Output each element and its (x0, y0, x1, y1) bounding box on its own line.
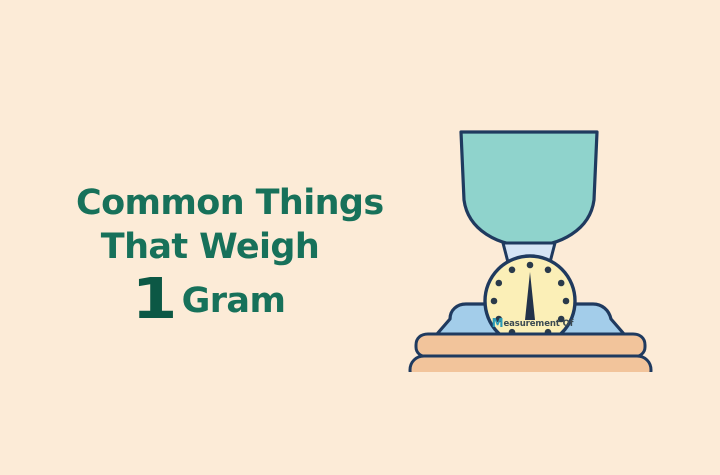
dial-tick (496, 280, 503, 287)
bowl-shape (461, 132, 597, 246)
headline-weight-unit: Gram (182, 281, 286, 321)
dial-tick (563, 298, 570, 305)
brand-initial-letter: M (492, 316, 504, 330)
base-band-lower (410, 356, 651, 372)
poster-canvas: Common Things That Weigh 1Gram (0, 0, 720, 475)
dial-tick (509, 267, 516, 274)
headline-line-2: That Weigh (76, 230, 344, 265)
scale-base-group (410, 334, 651, 372)
headline-line-1: Common Things (76, 186, 344, 221)
weighing-scale-icon (400, 112, 665, 372)
headline-line-3: 1Gram (76, 272, 344, 328)
scale-brand-label: Measurement Of (400, 319, 665, 329)
weighing-scale-illustration (400, 112, 665, 372)
dial-tick (491, 298, 498, 305)
dial-tick (527, 262, 534, 269)
dial-tick (558, 280, 565, 287)
brand-label-rest: easurement Of (503, 319, 573, 329)
base-band-upper (416, 334, 645, 357)
headline-block: Common Things That Weigh 1Gram (76, 186, 344, 328)
dial-tick (545, 267, 552, 274)
headline-weight-number: 1 (131, 272, 177, 328)
